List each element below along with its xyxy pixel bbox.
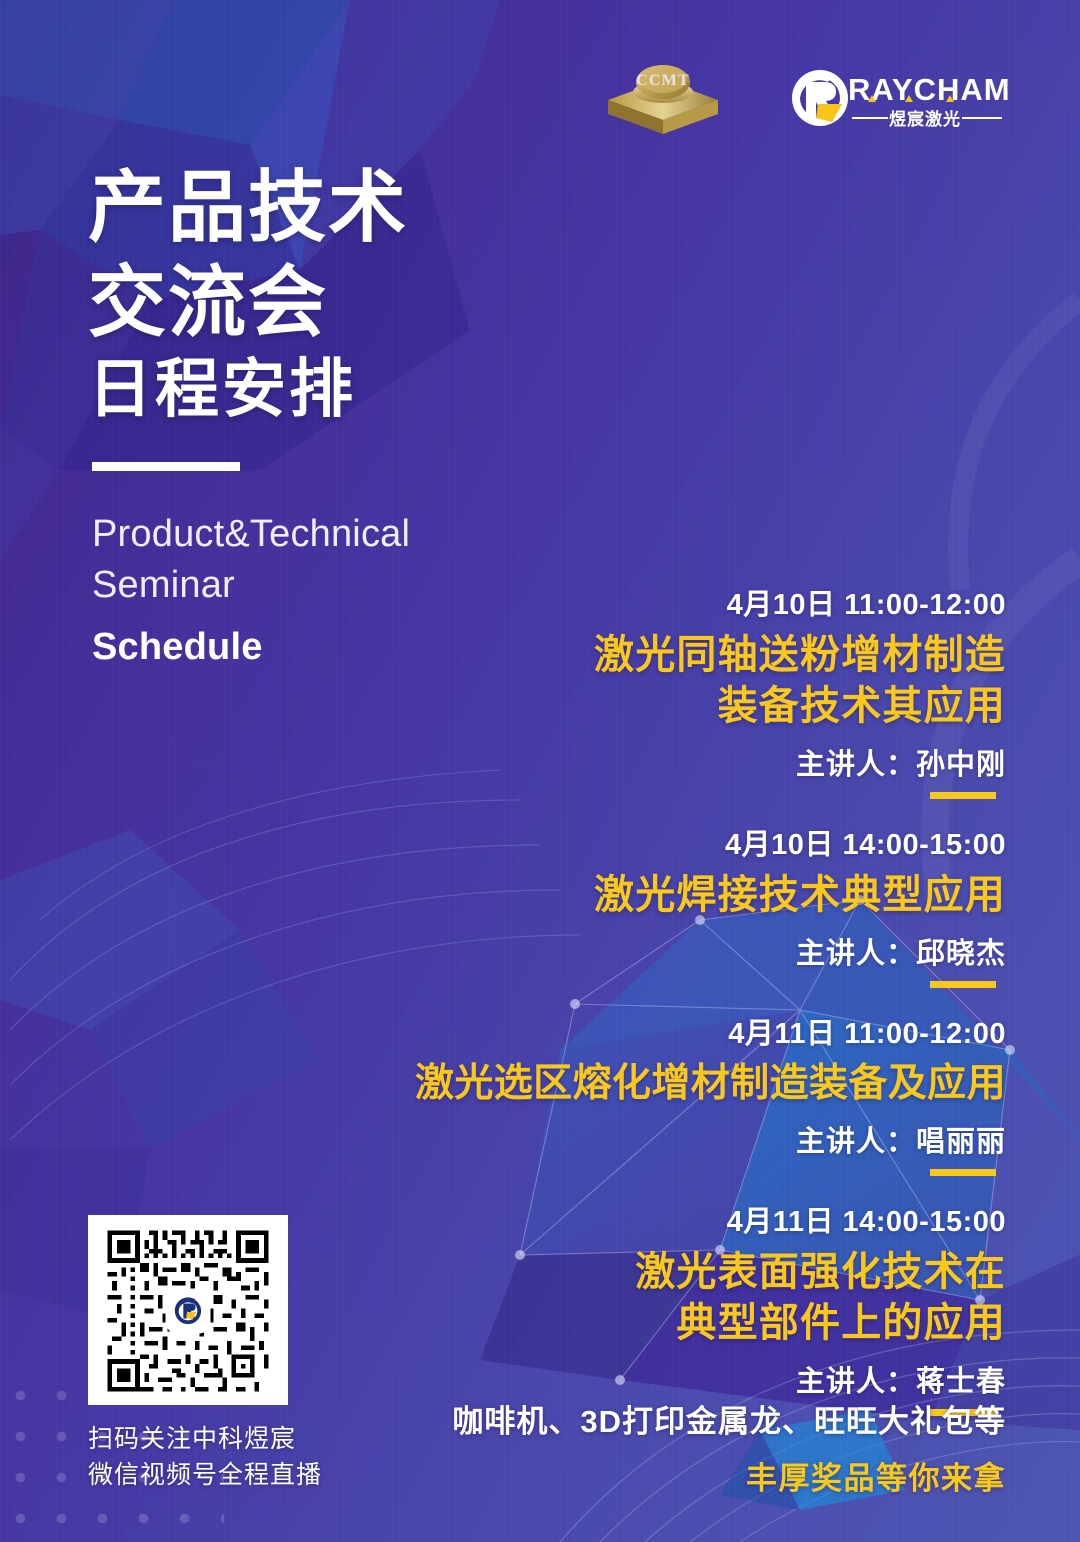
qr-caption-line-2: 微信视频号全程直播 — [88, 1458, 322, 1494]
prize-line-1: 咖啡机、3D打印金属龙、旺旺大礼包等 — [386, 1400, 1006, 1443]
session-title-line-1: 激光选区熔化增材制造装备及应用 — [306, 1059, 1006, 1109]
session-title-line-1: 激光同轴送粉增材制造 — [466, 630, 1006, 681]
raycham-logo: RAYCHAM 煜宸激光 — [776, 68, 1008, 132]
qr-code[interactable] — [88, 1215, 288, 1405]
page-title: 产品技术 交流会 日程安排 — [88, 160, 558, 428]
session-title: 激光选区熔化增材制造装备及应用 — [306, 1059, 1006, 1109]
title-line-2: 交流会 — [88, 255, 558, 350]
session-title: 激光同轴送粉增材制造 装备技术其应用 — [466, 630, 1006, 732]
session-title-line-2: 典型部件上的应用 — [466, 1298, 1006, 1349]
header-logo-bar: CCMT RAYCHAM 煜宸激光 — [0, 58, 1080, 142]
prize-line-2: 丰厚奖品等你来拿 — [386, 1453, 1006, 1498]
session-underline — [930, 981, 996, 988]
session-time: 4月11日 14:00-15:00 — [466, 1203, 1006, 1242]
schedule-list: 4月10日 11:00-12:00 激光同轴送粉增材制造 装备技术其应用 主讲人… — [466, 586, 1006, 1443]
session-title-line-1: 激光焊接技术典型应用 — [466, 870, 1006, 921]
session-speaker: 主讲人：蒋士春 — [466, 1358, 1006, 1400]
session-underline — [930, 792, 996, 799]
session-speaker: 主讲人：邱晓杰 — [466, 930, 1006, 972]
title-line-1: 产品技术 — [88, 160, 558, 255]
title-line-3: 日程安排 — [88, 350, 558, 428]
prize-footer: 咖啡机、3D打印金属龙、旺旺大礼包等 丰厚奖品等你来拿 — [386, 1400, 1006, 1498]
qr-caption: 扫码关注中科煜宸 微信视频号全程直播 — [88, 1422, 322, 1493]
session-title-line-1: 激光表面强化技术在 — [466, 1247, 1006, 1298]
schedule-item: 4月10日 11:00-12:00 激光同轴送粉增材制造 装备技术其应用 主讲人… — [466, 586, 1006, 799]
ccmt-logo: CCMT — [604, 58, 722, 142]
session-time: 4月10日 11:00-12:00 — [466, 586, 1006, 625]
title-divider — [92, 462, 240, 471]
subtitle-line-1: Product&Technical — [92, 509, 558, 559]
raycham-mark-glyph — [173, 1296, 203, 1326]
raycham-mark-icon — [168, 1291, 208, 1331]
session-speaker: 主讲人：孙中刚 — [466, 741, 1006, 783]
session-title: 激光焊接技术典型应用 — [466, 870, 1006, 921]
session-speaker: 主讲人：唱丽丽 — [306, 1118, 1006, 1160]
qr-caption-line-1: 扫码关注中科煜宸 — [88, 1422, 322, 1458]
session-underline — [930, 1169, 996, 1176]
session-title: 激光表面强化技术在 典型部件上的应用 — [466, 1247, 1006, 1349]
session-time: 4月11日 11:00-12:00 — [306, 1015, 1006, 1054]
session-time: 4月10日 14:00-15:00 — [466, 826, 1006, 865]
poster-root: CCMT RAYCHAM 煜宸激光 产品技术 交流会 — [0, 0, 1080, 1542]
schedule-item: 4月10日 14:00-15:00 激光焊接技术典型应用 主讲人：邱晓杰 — [466, 826, 1006, 988]
schedule-item: 4月11日 11:00-12:00 激光选区熔化增材制造装备及应用 主讲人：唱丽… — [306, 1015, 1006, 1176]
session-title-line-2: 装备技术其应用 — [466, 681, 1006, 732]
qr-block: 扫码关注中科煜宸 微信视频号全程直播 — [88, 1215, 322, 1493]
raycham-chinese-name: 煜宸激光 — [889, 109, 961, 130]
ccmt-logo-text: CCMT — [636, 72, 690, 89]
schedule-item: 4月11日 14:00-15:00 激光表面强化技术在 典型部件上的应用 主讲人… — [466, 1203, 1006, 1416]
